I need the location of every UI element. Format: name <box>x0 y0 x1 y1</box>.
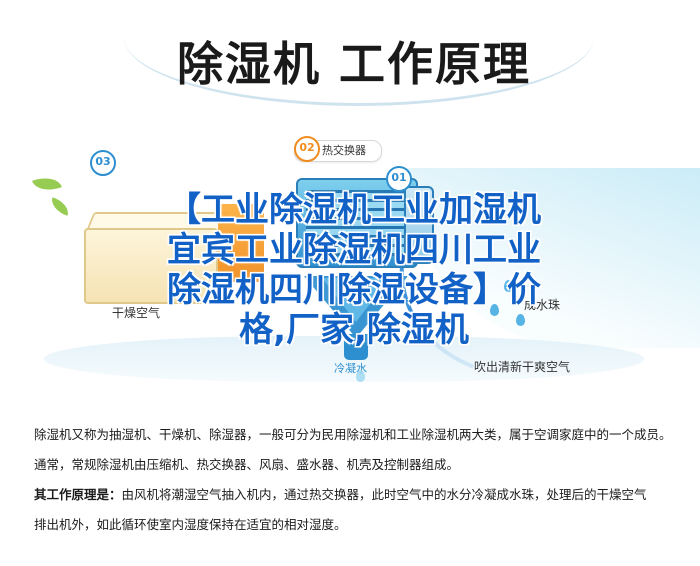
paragraph-2: 通常，常规除湿机由压缩机、热交换器、风扇、盛水器、机壳及控制器组成。 <box>34 454 676 476</box>
heat-exchanger-fins <box>306 190 408 256</box>
dry-chamber-body <box>84 228 218 304</box>
leaf-icon <box>48 197 71 216</box>
paragraph-3-label: 其工作原理是： <box>34 487 122 502</box>
airflow-funnel-inner <box>322 278 390 322</box>
page-root: 除湿机 工作原理 热交换器 03 02 01 干燥空气 成水珠 吹出清新干爽空气… <box>0 0 700 566</box>
badge-01: 01 <box>386 166 412 192</box>
badge-02: 02 <box>294 136 320 162</box>
banner: 除湿机 工作原理 <box>4 0 700 120</box>
filter-panel <box>218 204 264 282</box>
illustration-area: 热交换器 03 02 01 干燥空气 成水珠 吹出清新干爽空气 冷凝水 <box>4 108 700 408</box>
paragraph-4: 排出机外，如此循环使室内湿度保持在适宜的相对湿度。 <box>34 514 676 536</box>
water-drop-icon <box>490 304 499 316</box>
badge-03: 03 <box>90 150 116 176</box>
paragraph-3: 其工作原理是：由风机将潮湿空气抽入机内，通过热交换器，此时空气中的水分冷凝成水珠… <box>34 484 676 506</box>
label-dry-air: 干燥空气 <box>112 304 160 321</box>
article-body: 除湿机又称为抽湿机、干燥机、除湿器，一般可分为民用除湿机和工业除湿机两大类，属于… <box>34 424 676 544</box>
leaf-icon <box>32 172 62 196</box>
label-water-drop: 成水珠 <box>524 296 560 313</box>
paragraph-3-text: 由风机将潮湿空气抽入机内，通过热交换器，此时空气中的水分冷凝成水珠，处理后的干燥… <box>122 487 647 502</box>
page-title: 除湿机 工作原理 <box>4 28 700 94</box>
water-drop-icon <box>356 370 365 382</box>
dehumidifier-side-panel <box>404 186 434 264</box>
airflow-funnel-stem <box>344 334 368 360</box>
water-drop-icon <box>516 314 525 326</box>
paragraph-1: 除湿机又称为抽湿机、干燥机、除湿器，一般可分为民用除湿机和工业除湿机两大类，属于… <box>34 424 676 446</box>
heat-exchanger-label: 热交换器 <box>322 144 366 157</box>
water-drop-icon <box>504 280 513 292</box>
label-fresh-air: 吹出清新干爽空气 <box>474 358 570 375</box>
